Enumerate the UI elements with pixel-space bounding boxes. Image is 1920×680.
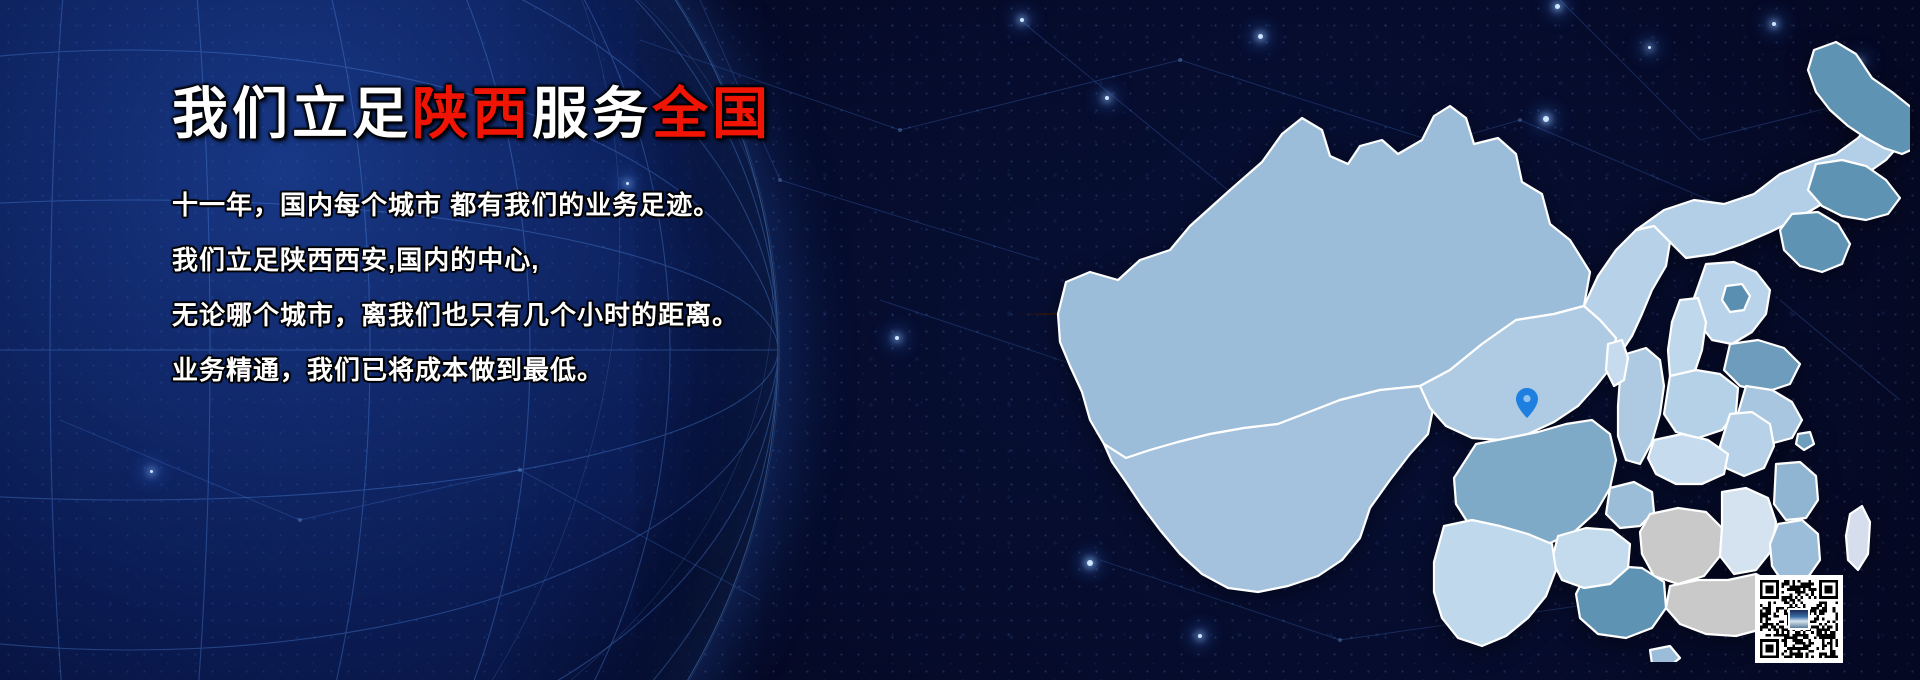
province-zhejiang (1774, 462, 1818, 520)
province-hubei (1648, 434, 1728, 484)
province-hunan (1640, 508, 1722, 584)
province-ningxia (1606, 340, 1628, 386)
china-map (1030, 14, 1910, 662)
headline-segment-1: 我们立足 (172, 82, 412, 145)
promo-banner: 我们立足陕西服务全国 十一年，国内每个城市 都有我们的业务足迹。 我们立足陕西西… (0, 0, 1920, 680)
province-anhui (1720, 412, 1774, 476)
province-jiangxi (1720, 488, 1776, 574)
headline-segment-4: 全国 (652, 82, 772, 145)
description-line: 无论哪个城市，离我们也只有几个小时的距离。 (172, 302, 992, 328)
description-line: 业务精通，我们已将成本做到最低。 (172, 357, 992, 383)
province-hainan (1650, 646, 1680, 662)
wechat-qr-code[interactable] (1755, 575, 1843, 663)
province-shandong (1724, 340, 1800, 392)
location-pin-icon (1516, 388, 1538, 418)
qr-center-logo (1788, 608, 1810, 630)
province-taiwan (1846, 506, 1870, 570)
description-line: 我们立足陕西西安,国内的中心, (172, 247, 992, 273)
description-lines: 十一年，国内每个城市 都有我们的业务足迹。 我们立足陕西西安,国内的中心, 无论… (172, 192, 992, 383)
province-liaoning (1780, 212, 1850, 272)
headline-segment-3: 服务 (532, 82, 652, 145)
copy-block: 我们立足陕西服务全国 十一年，国内每个城市 都有我们的业务足迹。 我们立足陕西西… (172, 86, 992, 412)
page-title: 我们立足陕西服务全国 (172, 86, 992, 142)
province-jilin (1808, 160, 1900, 220)
province-shanghai (1796, 432, 1814, 450)
description-line: 十一年，国内每个城市 都有我们的业务足迹。 (172, 192, 992, 218)
province-beijing (1722, 284, 1750, 312)
province-yunnan (1434, 520, 1556, 646)
headline-segment-2: 陕西 (412, 82, 532, 145)
